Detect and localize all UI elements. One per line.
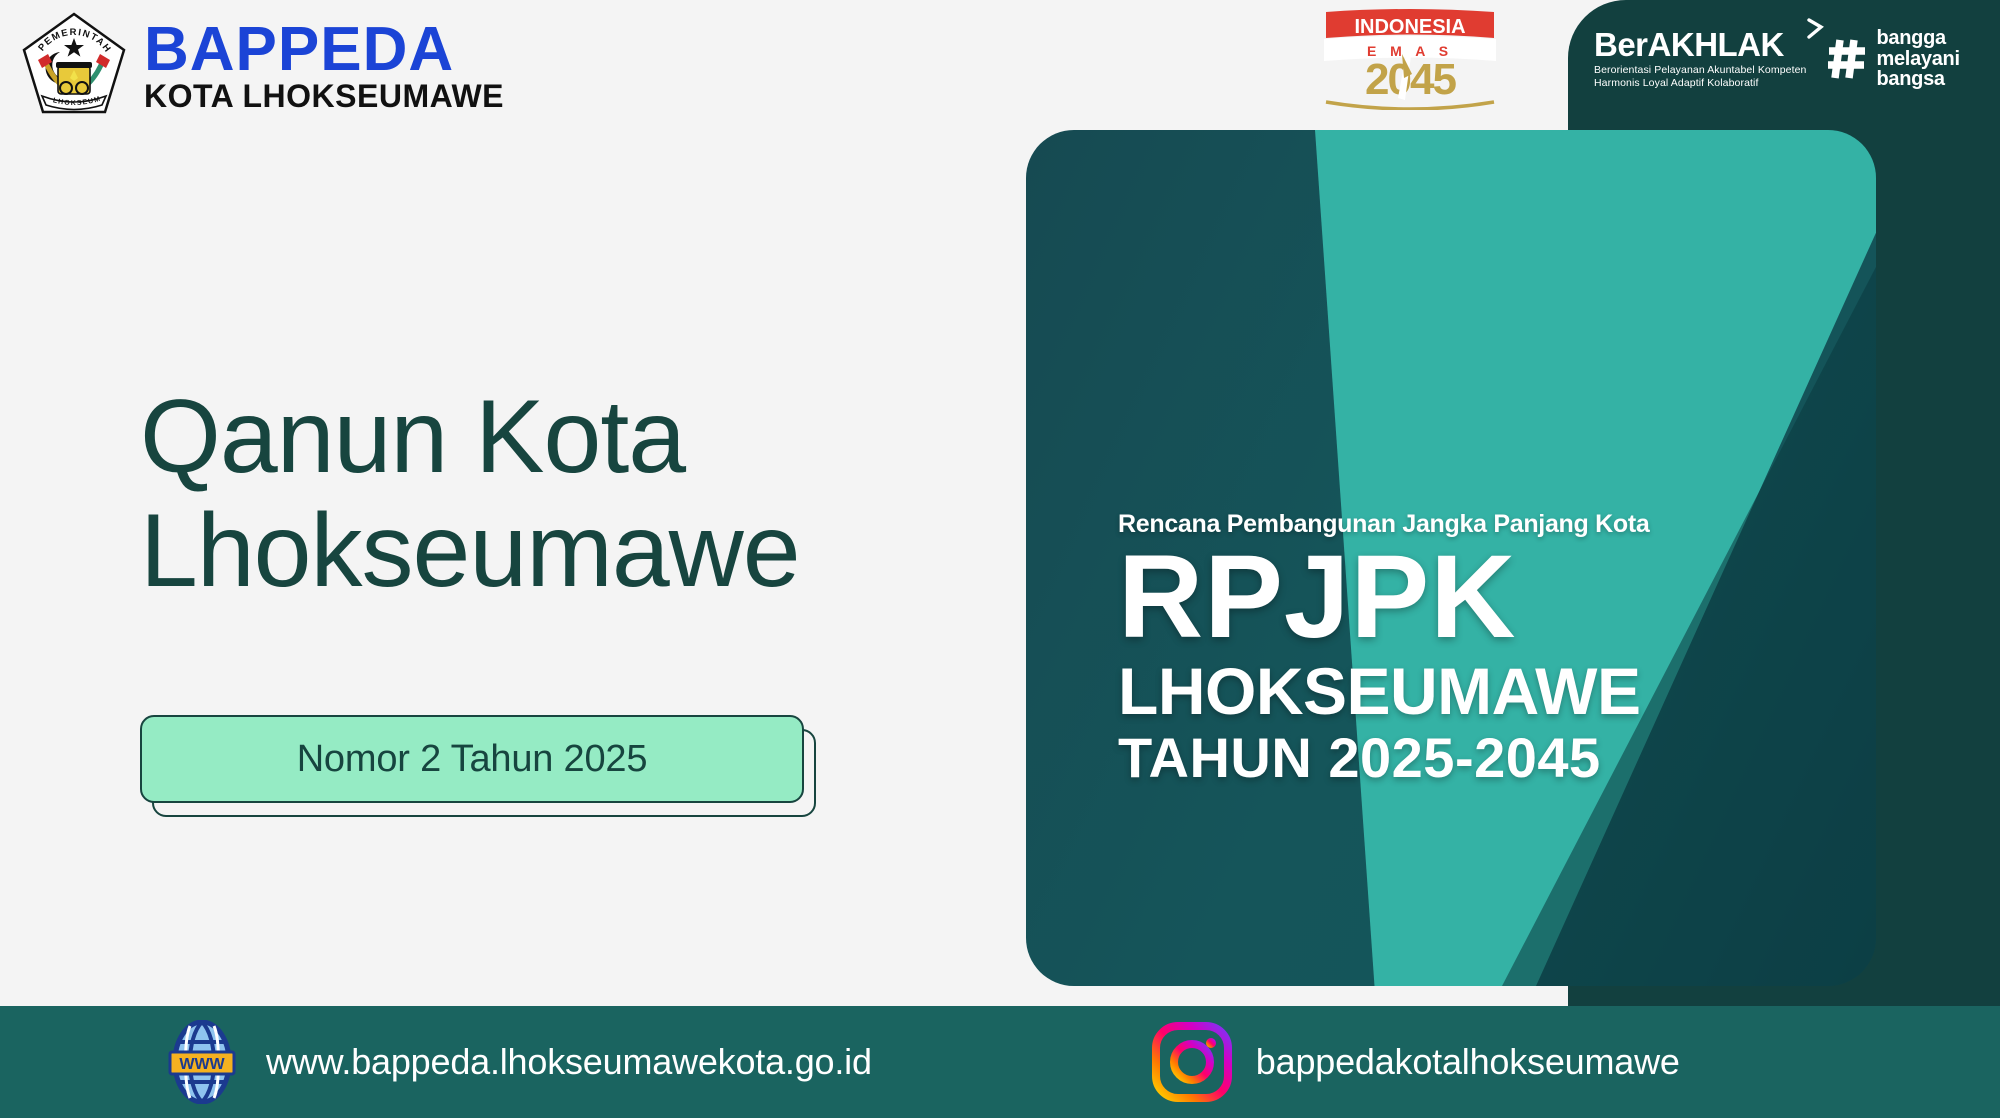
card-acronym: RPJPK [1118,543,1818,652]
footer-website-label: www.bappeda.lhokseumawekota.go.id [266,1041,872,1083]
rpjpk-cover-card: Rencana Pembangunan Jangka Panjang Kota … [1026,130,1876,986]
www-text: WWW [179,1056,225,1073]
tagline-line2: melayani [1877,49,1960,69]
globe-www-icon: WWW [160,1020,244,1104]
berakhlak-subtitle-line1: Berorientasi Pelayanan Akuntabel Kompete… [1594,64,1807,77]
page-title: Qanun Kota Lhokseumawe [140,380,1000,609]
instagram-icon [1150,1020,1234,1104]
badge-body: Nomor 2 Tahun 2025 [140,715,804,803]
bappeda-wordmark-top: BAPPEDA [144,20,504,80]
hashtag-icon [1825,36,1871,82]
emas-line1-text: INDONESIA [1354,16,1465,38]
city-crest-icon: PEMERINTAH KOTA LHOKSEUMAWE [18,8,130,120]
card-years: TAHUN 2025-2045 [1118,730,1818,786]
bappeda-wordmark-bottom: KOTA LHOKSEUMAWE [144,81,504,112]
berakhlak-subtitle-line2: Harmonis Loyal Adaptif Kolaboratif [1594,77,1807,90]
bangga-melayani-bangsa-tagline: bangga melayani bangsa [1877,28,1960,89]
badge-label: Nomor 2 Tahun 2025 [297,738,648,781]
page-title-line2: Lhokseumawe [140,494,1000,608]
tagline-line1: bangga [1877,28,1960,48]
footer-bar: WWW www.bappeda.lhokseumawekota.go.id [0,1006,2000,1118]
card-city: LHOKSEUMAWE [1118,658,1818,724]
regulation-number-badge: Nomor 2 Tahun 2025 [140,715,820,825]
card-text-block: Rencana Pembangunan Jangka Panjang Kota … [1118,510,1818,786]
bappeda-wordmark: BAPPEDA KOTA LHOKSEUMAWE [144,20,504,111]
emas-year-text: 2045 [1365,55,1456,104]
bappeda-logo: PEMERINTAH KOTA LHOKSEUMAWE [18,8,504,120]
page-title-line1: Qanun Kota [140,380,1000,494]
chevron-up-right-icon [1805,18,1827,42]
berakhlak-title: BerAKHLAK [1594,26,1784,63]
indonesia-emas-2045-logo: INDONESIA E M A S 2045 [1310,6,1510,110]
footer-instagram-label: bappedakotalhokseumawe [1256,1041,1680,1083]
berakhlak-logo: BerAKHLAK Berorientasi Pelayanan Akuntab… [1568,0,2000,118]
footer-instagram[interactable]: bappedakotalhokseumawe [1150,1020,1680,1104]
slide-canvas: PEMERINTAH KOTA LHOKSEUMAWE [0,0,2000,1118]
footer-website[interactable]: WWW www.bappeda.lhokseumawekota.go.id [160,1020,872,1104]
tagline-line3: bangsa [1877,69,1960,89]
